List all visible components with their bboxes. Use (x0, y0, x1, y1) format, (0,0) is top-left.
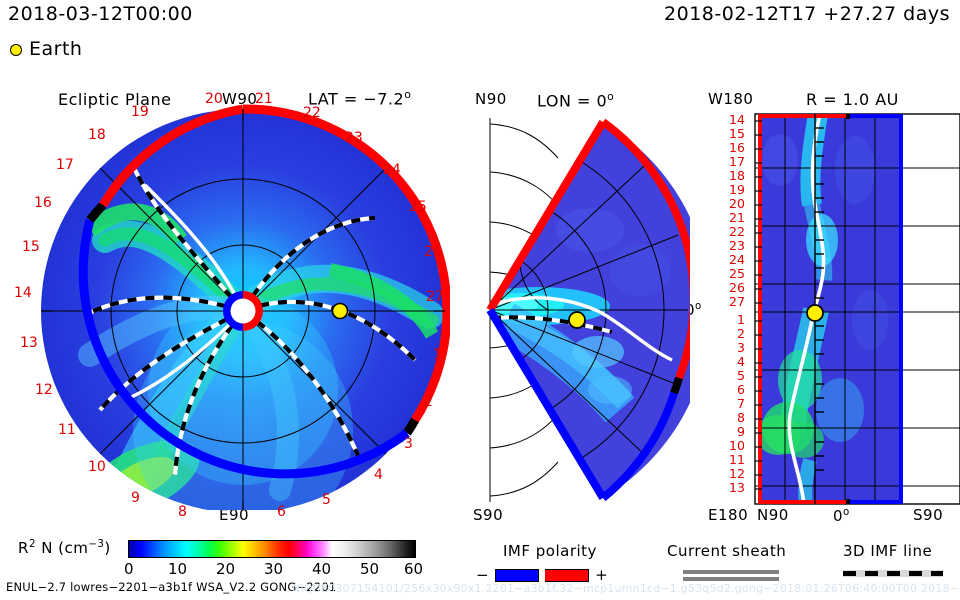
panel2-title: LON = 0o (537, 92, 614, 109)
current-sheath-legend-sample (683, 570, 779, 581)
panel2-top-label: N90 (475, 92, 507, 107)
imf-polarity-legend-title: IMF polarity (503, 544, 597, 559)
sun-marker (223, 291, 263, 331)
polarity-negative-swatch (495, 569, 539, 582)
imf-line-legend-title: 3D IMF line (843, 544, 932, 559)
density-field-fixed-radius (756, 114, 903, 504)
polarity-plus-label: + (595, 568, 608, 583)
run-start-label: 2018-02-12T17 +27.27 days (664, 5, 950, 24)
watermark-text: NIQUE0307154101/256x30x90x1.2201−a3b1f.3… (292, 583, 960, 594)
polarity-minus-label: − (476, 568, 489, 583)
earth-marker-panel2 (569, 312, 585, 328)
earth-legend: Earth (10, 40, 82, 59)
density-colorbar (128, 540, 416, 558)
panel3-bottom-label: E180 (708, 508, 748, 523)
panel3-title: R = 1.0 AU (806, 92, 899, 108)
panel2-bottom-label: S90 (473, 508, 503, 523)
panel3-xtick-s90: S90 (913, 508, 943, 523)
earth-marker-panel1 (333, 304, 348, 319)
earth-marker-icon (10, 44, 22, 56)
imf-line-legend-sample (843, 570, 943, 577)
model-timestamp: 2018-03-12T00:00 (8, 5, 193, 24)
colorbar-label: R2 N (cm−3) (18, 540, 111, 556)
meridional-plane-plot (460, 110, 690, 510)
earth-marker-panel3 (807, 305, 823, 321)
panel1-bottom-label: E90 (219, 508, 249, 523)
panel3-xtick-zero: 0o (833, 508, 850, 524)
earth-legend-label: Earth (29, 40, 82, 59)
polarity-positive-swatch (545, 569, 589, 582)
panel3-xtick-n90: N90 (757, 508, 789, 523)
run-id-footer: ENUL−2.7 lowres−2201−a3b1f WSA_V2.2 GONG… (6, 582, 336, 594)
imf-polarity-legend: − + (476, 568, 608, 583)
panel3-top-label: W180 (708, 92, 753, 107)
current-sheath-legend-title: Current sheath (667, 544, 786, 559)
